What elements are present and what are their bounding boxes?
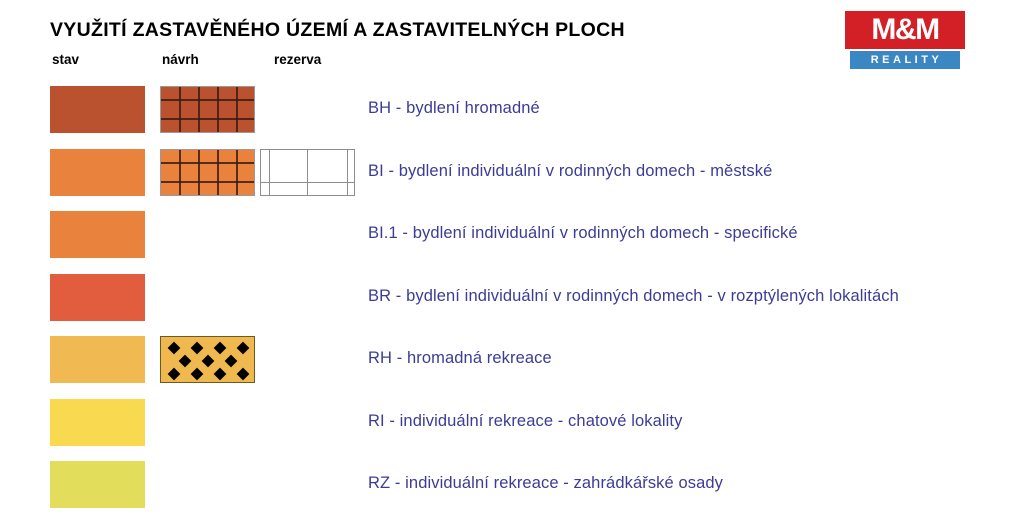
- legend-row: BI.1 - bydlení individuální v rodinných …: [0, 211, 1024, 274]
- swatch-navrh-bh: [160, 86, 255, 133]
- legend-label-bh: BH - bydlení hromadné: [368, 99, 540, 118]
- legend-row: BI - bydlení individuální v rodinných do…: [0, 149, 1024, 212]
- diamond-dot-icon: [191, 342, 204, 355]
- swatch-navrh-rh: [160, 336, 255, 383]
- legend-label-bi-1: BI.1 - bydlení individuální v rodinných …: [368, 224, 798, 243]
- diamond-dot-icon: [237, 342, 250, 355]
- diamond-dot-icon: [237, 368, 250, 381]
- column-header-rezerva: rezerva: [274, 52, 321, 67]
- legend-row: RZ - individuální rekreace - zahrádkářsk…: [0, 461, 1024, 524]
- legend-label-ri: RI - individuální rekreace - chatové lok…: [368, 412, 682, 431]
- swatch-stav-ri: [50, 399, 145, 446]
- swatch-rezerva-bi: [260, 149, 355, 196]
- brand-logo-secondary-text: REALITY: [868, 55, 943, 66]
- brand-logo-secondary-block: REALITY: [850, 51, 960, 69]
- column-header-navrh: návrh: [162, 52, 199, 67]
- legend-row: RH - hromadná rekreace: [0, 336, 1024, 399]
- legend-label-br: BR - bydlení individuální v rodinných do…: [368, 287, 899, 306]
- swatch-navrh-bi: [160, 149, 255, 196]
- legend-row: RI - individuální rekreace - chatové lok…: [0, 399, 1024, 462]
- legend-label-rh: RH - hromadná rekreace: [368, 349, 552, 368]
- brand-logo-primary-block: M&M: [845, 11, 965, 49]
- brand-logo-primary-text: M&M: [871, 15, 938, 45]
- diamond-dot-icon: [225, 355, 238, 368]
- swatch-stav-rz: [50, 461, 145, 508]
- legend-rows: BH - bydlení hromadnéBI - bydlení indivi…: [0, 86, 1024, 524]
- column-header-stav: stav: [52, 52, 79, 67]
- legend-row: BR - bydlení individuální v rodinných do…: [0, 274, 1024, 337]
- legend-row: BH - bydlení hromadné: [0, 86, 1024, 149]
- diamond-dot-icon: [191, 368, 204, 381]
- swatch-stav-bi-1: [50, 211, 145, 258]
- swatch-stav-rh: [50, 336, 145, 383]
- diamond-dot-icon: [179, 355, 192, 368]
- swatch-stav-br: [50, 274, 145, 321]
- brand-logo: M&M REALITY: [845, 11, 965, 69]
- page-title: VYUŽITÍ ZASTAVĚNÉHO ÚZEMÍ A ZASTAVITELNÝ…: [50, 19, 625, 42]
- swatch-stav-bi: [50, 149, 145, 196]
- swatch-stav-bh: [50, 86, 145, 133]
- legend-label-rz: RZ - individuální rekreace - zahrádkářsk…: [368, 474, 723, 493]
- diamond-dot-icon: [168, 342, 181, 355]
- diamond-dot-icon: [214, 368, 227, 381]
- diamond-dot-icon: [168, 368, 181, 381]
- diamond-dot-icon: [214, 342, 227, 355]
- legend-label-bi: BI - bydlení individuální v rodinných do…: [368, 162, 772, 181]
- grid-pattern-overlay: [161, 87, 254, 132]
- diamond-dot-icon: [202, 355, 215, 368]
- grid-pattern-overlay: [161, 150, 254, 195]
